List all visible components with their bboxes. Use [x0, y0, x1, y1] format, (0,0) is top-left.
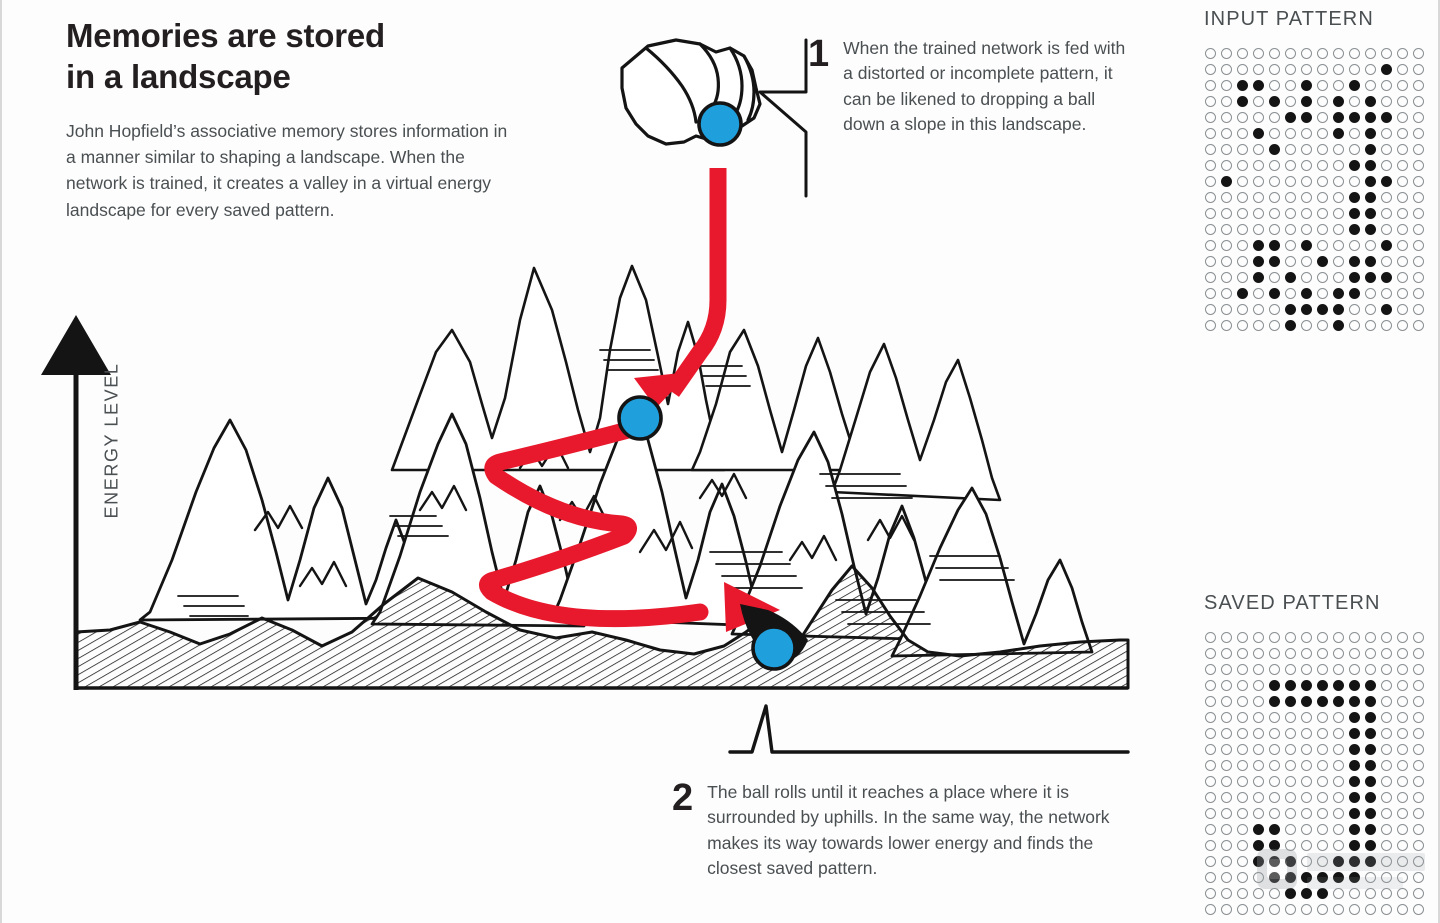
pattern-cell: [1394, 693, 1410, 709]
pattern-cell: [1410, 109, 1426, 125]
step-1-callout: 1 When the trained network is fed with a…: [808, 36, 1148, 138]
pattern-cell: [1314, 45, 1330, 61]
saved-pattern-grid: [1202, 629, 1426, 917]
pattern-cell: [1266, 157, 1282, 173]
pattern-cell: [1330, 885, 1346, 901]
pattern-cell: [1410, 693, 1426, 709]
pattern-cell: [1218, 237, 1234, 253]
pattern-cell: [1250, 869, 1266, 885]
pattern-cell: [1330, 789, 1346, 805]
pattern-cell: [1218, 837, 1234, 853]
pattern-cell: [1218, 141, 1234, 157]
pattern-cell: [1266, 205, 1282, 221]
input-pattern-label: INPUT PATTERN: [1204, 8, 1426, 31]
blue-ball-icon-middle: [619, 397, 661, 439]
pattern-cell: [1410, 301, 1426, 317]
pattern-cell: [1378, 237, 1394, 253]
pattern-cell: [1314, 885, 1330, 901]
pattern-cell: [1394, 869, 1410, 885]
pattern-cell: [1234, 869, 1250, 885]
pattern-cell: [1410, 853, 1426, 869]
pattern-cell: [1298, 709, 1314, 725]
pattern-cell: [1346, 237, 1362, 253]
pattern-cell: [1250, 773, 1266, 789]
pattern-cell: [1362, 805, 1378, 821]
pattern-cell: [1378, 709, 1394, 725]
pattern-cell: [1346, 661, 1362, 677]
pattern-cell: [1218, 125, 1234, 141]
saved-pattern-panel: SAVED PATTERN: [1202, 592, 1426, 917]
pattern-cell: [1378, 157, 1394, 173]
pattern-cell: [1330, 237, 1346, 253]
pattern-cell: [1202, 253, 1218, 269]
pattern-cell: [1298, 77, 1314, 93]
pattern-cell: [1202, 661, 1218, 677]
pattern-cell: [1330, 773, 1346, 789]
pattern-cell: [1266, 189, 1282, 205]
pattern-cell: [1234, 741, 1250, 757]
pattern-cell: [1410, 45, 1426, 61]
pattern-cell: [1266, 237, 1282, 253]
pattern-cell: [1250, 125, 1266, 141]
pattern-cell: [1362, 157, 1378, 173]
pattern-cell: [1234, 837, 1250, 853]
pattern-cell: [1394, 61, 1410, 77]
pattern-cell: [1330, 157, 1346, 173]
pattern-cell: [1250, 677, 1266, 693]
pattern-cell: [1362, 237, 1378, 253]
pattern-cell: [1298, 869, 1314, 885]
pattern-cell: [1298, 269, 1314, 285]
pattern-cell: [1282, 317, 1298, 333]
pattern-cell: [1378, 141, 1394, 157]
pattern-cell: [1394, 741, 1410, 757]
pattern-cell: [1282, 141, 1298, 157]
pattern-cell: [1250, 741, 1266, 757]
pattern-cell: [1202, 901, 1218, 917]
pattern-cell: [1394, 725, 1410, 741]
pattern-cell: [1298, 773, 1314, 789]
pattern-cell: [1298, 205, 1314, 221]
pattern-cell: [1202, 821, 1218, 837]
pattern-cell: [1346, 821, 1362, 837]
pattern-cell: [1314, 221, 1330, 237]
pattern-cell: [1314, 125, 1330, 141]
pattern-cell: [1266, 141, 1282, 157]
pattern-cell: [1202, 285, 1218, 301]
pattern-cell: [1362, 661, 1378, 677]
pattern-cell: [1410, 677, 1426, 693]
pattern-cell: [1234, 61, 1250, 77]
pattern-cell: [1330, 757, 1346, 773]
pattern-cell: [1234, 221, 1250, 237]
pattern-cell: [1346, 709, 1362, 725]
pattern-cell: [1330, 837, 1346, 853]
pattern-cell: [1282, 189, 1298, 205]
energy-axis-label: ENERGY LEVEL: [101, 363, 122, 519]
pattern-cell: [1314, 205, 1330, 221]
pattern-cell: [1282, 45, 1298, 61]
pattern-cell: [1410, 741, 1426, 757]
pattern-cell: [1314, 805, 1330, 821]
pattern-cell: [1330, 301, 1346, 317]
pattern-cell: [1410, 93, 1426, 109]
pattern-cell: [1346, 693, 1362, 709]
pattern-cell: [1378, 109, 1394, 125]
pattern-cell: [1314, 853, 1330, 869]
pattern-cell: [1202, 269, 1218, 285]
pattern-cell: [1346, 269, 1362, 285]
pattern-cell: [1378, 645, 1394, 661]
pattern-cell: [1314, 301, 1330, 317]
pattern-cell: [1266, 661, 1282, 677]
pattern-cell: [1346, 189, 1362, 205]
pattern-cell: [1298, 125, 1314, 141]
pattern-cell: [1362, 221, 1378, 237]
pattern-cell: [1314, 709, 1330, 725]
pattern-cell: [1378, 853, 1394, 869]
pattern-cell: [1218, 173, 1234, 189]
pattern-cell: [1330, 677, 1346, 693]
pattern-cell: [1202, 221, 1218, 237]
pattern-cell: [1218, 317, 1234, 333]
pattern-cell: [1266, 285, 1282, 301]
pattern-cell: [1202, 61, 1218, 77]
pattern-cell: [1330, 45, 1346, 61]
pattern-cell: [1330, 661, 1346, 677]
pattern-cell: [1330, 253, 1346, 269]
pattern-cell: [1394, 709, 1410, 725]
pattern-cell: [1314, 757, 1330, 773]
pattern-cell: [1410, 269, 1426, 285]
pattern-cell: [1346, 741, 1362, 757]
pattern-cell: [1346, 141, 1362, 157]
pattern-cell: [1378, 725, 1394, 741]
pattern-cell: [1362, 109, 1378, 125]
pattern-cell: [1362, 741, 1378, 757]
pattern-cell: [1298, 173, 1314, 189]
pattern-cell: [1362, 709, 1378, 725]
pattern-cell: [1266, 125, 1282, 141]
pattern-cell: [1394, 77, 1410, 93]
pattern-cell: [1282, 173, 1298, 189]
pattern-cell: [1314, 61, 1330, 77]
pattern-cell: [1202, 757, 1218, 773]
pattern-cell: [1282, 629, 1298, 645]
pattern-cell: [1314, 77, 1330, 93]
pattern-cell: [1378, 693, 1394, 709]
pattern-cell: [1202, 725, 1218, 741]
pattern-cell: [1282, 645, 1298, 661]
pattern-cell: [1250, 853, 1266, 869]
pattern-cell: [1330, 709, 1346, 725]
pattern-cell: [1234, 93, 1250, 109]
pattern-cell: [1378, 93, 1394, 109]
pattern-cell: [1314, 693, 1330, 709]
pattern-cell: [1234, 629, 1250, 645]
pattern-cell: [1250, 629, 1266, 645]
pattern-cell: [1378, 757, 1394, 773]
pattern-cell: [1410, 125, 1426, 141]
pattern-cell: [1250, 789, 1266, 805]
pattern-cell: [1314, 741, 1330, 757]
pattern-cell: [1266, 853, 1282, 869]
pattern-cell: [1362, 253, 1378, 269]
pattern-cell: [1330, 221, 1346, 237]
pattern-cell: [1394, 141, 1410, 157]
pattern-cell: [1362, 317, 1378, 333]
pattern-cell: [1346, 45, 1362, 61]
pattern-cell: [1314, 821, 1330, 837]
pattern-cell: [1378, 901, 1394, 917]
pattern-cell: [1330, 205, 1346, 221]
pattern-cell: [1218, 93, 1234, 109]
pattern-cell: [1234, 173, 1250, 189]
pattern-cell: [1234, 773, 1250, 789]
pattern-cell: [1298, 853, 1314, 869]
pattern-cell: [1362, 901, 1378, 917]
pattern-cell: [1362, 77, 1378, 93]
pattern-cell: [1234, 693, 1250, 709]
pattern-cell: [1202, 109, 1218, 125]
pattern-cell: [1282, 789, 1298, 805]
pattern-cell: [1298, 885, 1314, 901]
pattern-cell: [1234, 141, 1250, 157]
pattern-cell: [1346, 645, 1362, 661]
pattern-cell: [1410, 757, 1426, 773]
pattern-cell: [1234, 885, 1250, 901]
pattern-cell: [1394, 645, 1410, 661]
pattern-cell: [1314, 773, 1330, 789]
pattern-cell: [1362, 205, 1378, 221]
step-1-text: When the trained network is fed with a d…: [843, 36, 1133, 138]
pattern-cell: [1314, 645, 1330, 661]
pattern-cell: [1378, 805, 1394, 821]
pattern-cell: [1202, 837, 1218, 853]
pattern-cell: [1202, 677, 1218, 693]
pattern-cell: [1394, 773, 1410, 789]
pattern-cell: [1394, 837, 1410, 853]
pattern-cell: [1394, 301, 1410, 317]
pattern-cell: [1346, 837, 1362, 853]
blue-ball-icon-end: [753, 627, 795, 669]
pattern-cell: [1362, 189, 1378, 205]
pattern-cell: [1234, 789, 1250, 805]
pattern-cell: [1218, 45, 1234, 61]
pattern-cell: [1266, 173, 1282, 189]
pattern-cell: [1202, 205, 1218, 221]
pattern-cell: [1250, 189, 1266, 205]
pattern-cell: [1202, 853, 1218, 869]
pattern-cell: [1314, 157, 1330, 173]
pattern-cell: [1410, 173, 1426, 189]
pattern-cell: [1346, 221, 1362, 237]
pattern-cell: [1266, 837, 1282, 853]
pattern-cell: [1362, 645, 1378, 661]
pattern-cell: [1330, 629, 1346, 645]
pattern-cell: [1346, 805, 1362, 821]
pattern-cell: [1250, 301, 1266, 317]
pattern-cell: [1250, 141, 1266, 157]
pattern-cell: [1218, 869, 1234, 885]
pattern-cell: [1330, 189, 1346, 205]
pattern-cell: [1362, 629, 1378, 645]
pattern-cell: [1218, 221, 1234, 237]
saved-pattern-label: SAVED PATTERN: [1204, 592, 1426, 615]
pattern-cell: [1234, 157, 1250, 173]
pattern-cell: [1282, 285, 1298, 301]
pattern-cell: [1234, 269, 1250, 285]
step-1-number: 1: [808, 36, 829, 72]
pattern-cell: [1250, 157, 1266, 173]
pattern-cell: [1298, 141, 1314, 157]
pattern-cell: [1266, 693, 1282, 709]
step1-leader-line: [760, 40, 806, 196]
pattern-cell: [1330, 741, 1346, 757]
pattern-cell: [1298, 629, 1314, 645]
pattern-cell: [1282, 301, 1298, 317]
pattern-cell: [1314, 269, 1330, 285]
pattern-cell: [1298, 725, 1314, 741]
pattern-cell: [1410, 61, 1426, 77]
pattern-cell: [1282, 869, 1298, 885]
pattern-cell: [1346, 125, 1362, 141]
pattern-cell: [1266, 61, 1282, 77]
pattern-cell: [1234, 901, 1250, 917]
pattern-cell: [1330, 693, 1346, 709]
pattern-cell: [1202, 189, 1218, 205]
pattern-cell: [1234, 317, 1250, 333]
pattern-cell: [1378, 741, 1394, 757]
pattern-cell: [1330, 141, 1346, 157]
pattern-cell: [1362, 301, 1378, 317]
pattern-cell: [1282, 693, 1298, 709]
pattern-cell: [1362, 693, 1378, 709]
pattern-cell: [1410, 901, 1426, 917]
pattern-cell: [1346, 173, 1362, 189]
pattern-cell: [1250, 805, 1266, 821]
pattern-cell: [1314, 189, 1330, 205]
pattern-cell: [1234, 237, 1250, 253]
pattern-cell: [1250, 757, 1266, 773]
pattern-cell: [1218, 253, 1234, 269]
pattern-cell: [1378, 837, 1394, 853]
pattern-cell: [1202, 709, 1218, 725]
pattern-cell: [1282, 77, 1298, 93]
pattern-cell: [1410, 821, 1426, 837]
pattern-cell: [1394, 661, 1410, 677]
pattern-cell: [1298, 301, 1314, 317]
pattern-cell: [1298, 221, 1314, 237]
pattern-cell: [1362, 141, 1378, 157]
pattern-cell: [1378, 125, 1394, 141]
pattern-cell: [1330, 285, 1346, 301]
pattern-cell: [1218, 725, 1234, 741]
pattern-cell: [1394, 109, 1410, 125]
pattern-cell: [1282, 709, 1298, 725]
pattern-cell: [1330, 173, 1346, 189]
pattern-cell: [1346, 901, 1362, 917]
input-pattern-grid: [1202, 45, 1426, 333]
pattern-cell: [1346, 789, 1362, 805]
pattern-cell: [1218, 629, 1234, 645]
pattern-cell: [1298, 661, 1314, 677]
pattern-cell: [1266, 301, 1282, 317]
pattern-cell: [1330, 61, 1346, 77]
pattern-cell: [1218, 661, 1234, 677]
pattern-cell: [1410, 645, 1426, 661]
pattern-cell: [1330, 805, 1346, 821]
pattern-cell: [1394, 901, 1410, 917]
pattern-cell: [1362, 837, 1378, 853]
pattern-cell: [1394, 173, 1410, 189]
pattern-cell: [1410, 629, 1426, 645]
pattern-cell: [1410, 837, 1426, 853]
pattern-cell: [1234, 109, 1250, 125]
pattern-cell: [1234, 709, 1250, 725]
pattern-cell: [1410, 661, 1426, 677]
pattern-cell: [1250, 821, 1266, 837]
pattern-cell: [1330, 77, 1346, 93]
pattern-cell: [1202, 741, 1218, 757]
pattern-cell: [1346, 109, 1362, 125]
pattern-cell: [1298, 157, 1314, 173]
pattern-cell: [1282, 885, 1298, 901]
pattern-cell: [1346, 885, 1362, 901]
pattern-cell: [1378, 773, 1394, 789]
pattern-cell: [1266, 821, 1282, 837]
pattern-cell: [1394, 253, 1410, 269]
pattern-cell: [1378, 885, 1394, 901]
pattern-cell: [1378, 629, 1394, 645]
pattern-cell: [1378, 77, 1394, 93]
pattern-cell: [1394, 629, 1410, 645]
blue-ball-icon-start: [699, 103, 741, 145]
pattern-cell: [1234, 285, 1250, 301]
pattern-cell: [1250, 837, 1266, 853]
pattern-cell: [1250, 93, 1266, 109]
pattern-cell: [1202, 645, 1218, 661]
pattern-cell: [1378, 789, 1394, 805]
pattern-cell: [1330, 645, 1346, 661]
pattern-cell: [1298, 757, 1314, 773]
pattern-cell: [1346, 869, 1362, 885]
pattern-cell: [1410, 189, 1426, 205]
pattern-cell: [1282, 221, 1298, 237]
pattern-cell: [1394, 285, 1410, 301]
pattern-cell: [1298, 645, 1314, 661]
pattern-cell: [1298, 253, 1314, 269]
pattern-cell: [1266, 93, 1282, 109]
pattern-cell: [1362, 61, 1378, 77]
pattern-cell: [1282, 757, 1298, 773]
pattern-cell: [1378, 45, 1394, 61]
pattern-cell: [1394, 853, 1410, 869]
pattern-cell: [1282, 205, 1298, 221]
pattern-cell: [1250, 901, 1266, 917]
pattern-cell: [1410, 253, 1426, 269]
pattern-cell: [1346, 677, 1362, 693]
pattern-cell: [1378, 677, 1394, 693]
pattern-cell: [1346, 773, 1362, 789]
pattern-cell: [1378, 205, 1394, 221]
pattern-cell: [1394, 789, 1410, 805]
pattern-cell: [1202, 125, 1218, 141]
pattern-cell: [1266, 77, 1282, 93]
pattern-cell: [1410, 805, 1426, 821]
pattern-cell: [1202, 77, 1218, 93]
pattern-cell: [1218, 901, 1234, 917]
